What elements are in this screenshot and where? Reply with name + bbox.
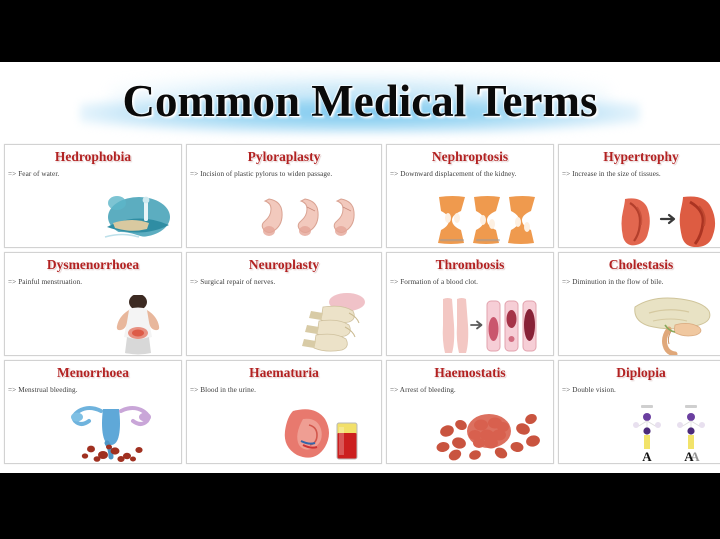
- term-description: => Blood in the urine.: [187, 383, 381, 395]
- spine-nerve-illustration: [186, 293, 379, 355]
- term-title: Haemostatis: [387, 361, 553, 383]
- term-title: Cholestasis: [559, 253, 720, 275]
- term-description: => Menstrual bleeding.: [5, 383, 181, 395]
- term-description: => Double vision.: [559, 383, 720, 395]
- term-title: Nephroptosis: [387, 145, 553, 167]
- term-description: => Arrest of bleeding.: [387, 383, 553, 395]
- kidney-urine-sample-illustration: [186, 401, 379, 463]
- term-description: => Downward displacement of the kidney.: [387, 167, 553, 179]
- svg-text:A: A: [690, 449, 700, 463]
- woman-abdominal-pain-illustration: [4, 293, 179, 355]
- svg-text:A: A: [642, 449, 652, 463]
- term-card-neuroplasty[interactable]: Neuroplasty => Surgical repair of nerves…: [186, 252, 382, 356]
- blood-clot-vessel-illustration: [386, 293, 551, 355]
- term-description: => Painful menstruation.: [5, 275, 181, 287]
- terms-grid: Hedrophobia => Fear of water.: [4, 144, 716, 464]
- term-card-nephroptosis[interactable]: Nephroptosis => Downward displacement of…: [386, 144, 554, 248]
- torso-kidney-illustration: [386, 185, 551, 247]
- term-card-haemostatis[interactable]: Haemostatis => Arrest of bleeding.: [386, 360, 554, 464]
- term-description: => Formation of a blood clot.: [387, 275, 553, 287]
- term-title: Menorrhoea: [5, 361, 181, 383]
- term-description: => Diminution in the flow of bile.: [559, 275, 720, 287]
- slide-content: Common Medical Terms Hedrophobia => Fear…: [0, 62, 720, 473]
- term-card-hypertrophy[interactable]: Hypertrophy => Increase in the size of t…: [558, 144, 720, 248]
- term-card-haematuria[interactable]: Haematuria => Blood in the urine.: [186, 360, 382, 464]
- page-title: Common Medical Terms: [0, 62, 720, 140]
- term-card-menorrhoea[interactable]: Menorrhoea => Menstrual bleeding.: [4, 360, 182, 464]
- term-card-cholestasis[interactable]: Cholestasis => Diminution in the flow of…: [558, 252, 720, 356]
- term-title: Pyloraplasty: [187, 145, 381, 167]
- term-card-diplopia[interactable]: Diplopia => Double vision.: [558, 360, 720, 464]
- term-description: => Increase in the size of tissues.: [559, 167, 720, 179]
- stomach-illustration: [186, 185, 379, 247]
- term-card-hedrophobia[interactable]: Hedrophobia => Fear of water.: [4, 144, 182, 248]
- term-card-pyloraplasty[interactable]: Pyloraplasty => Incision of plastic pylo…: [186, 144, 382, 248]
- double-vision-eye-illustration: A A A: [558, 401, 720, 463]
- term-title: Haematuria: [187, 361, 381, 383]
- video-frame: Common Medical Terms Hedrophobia => Fear…: [0, 0, 720, 539]
- term-description: => Fear of water.: [5, 167, 181, 179]
- term-title: Dysmenorrhoea: [5, 253, 181, 275]
- liver-gallbladder-illustration: [558, 293, 720, 355]
- term-title: Thrombosis: [387, 253, 553, 275]
- svg-text:A: A: [684, 449, 694, 463]
- term-title: Neuroplasty: [187, 253, 381, 275]
- muscle-arm-illustration: [558, 185, 720, 247]
- red-blood-cells-illustration: [386, 401, 551, 463]
- term-title: Hedrophobia: [5, 145, 181, 167]
- uterus-illustration: [4, 401, 179, 463]
- letterbox-top: [0, 0, 720, 62]
- term-title: Hypertrophy: [559, 145, 720, 167]
- title-banner: Common Medical Terms: [0, 62, 720, 144]
- term-title: Diplopia: [559, 361, 720, 383]
- letterbox-bottom: [0, 473, 720, 539]
- water-illustration: [4, 185, 179, 247]
- term-description: => Surgical repair of nerves.: [187, 275, 381, 287]
- term-description: => Incision of plastic pylorus to widen …: [187, 167, 381, 179]
- term-card-thrombosis[interactable]: Thrombosis => Formation of a blood clot.: [386, 252, 554, 356]
- term-card-dysmenorrhoea[interactable]: Dysmenorrhoea => Painful menstruation.: [4, 252, 182, 356]
